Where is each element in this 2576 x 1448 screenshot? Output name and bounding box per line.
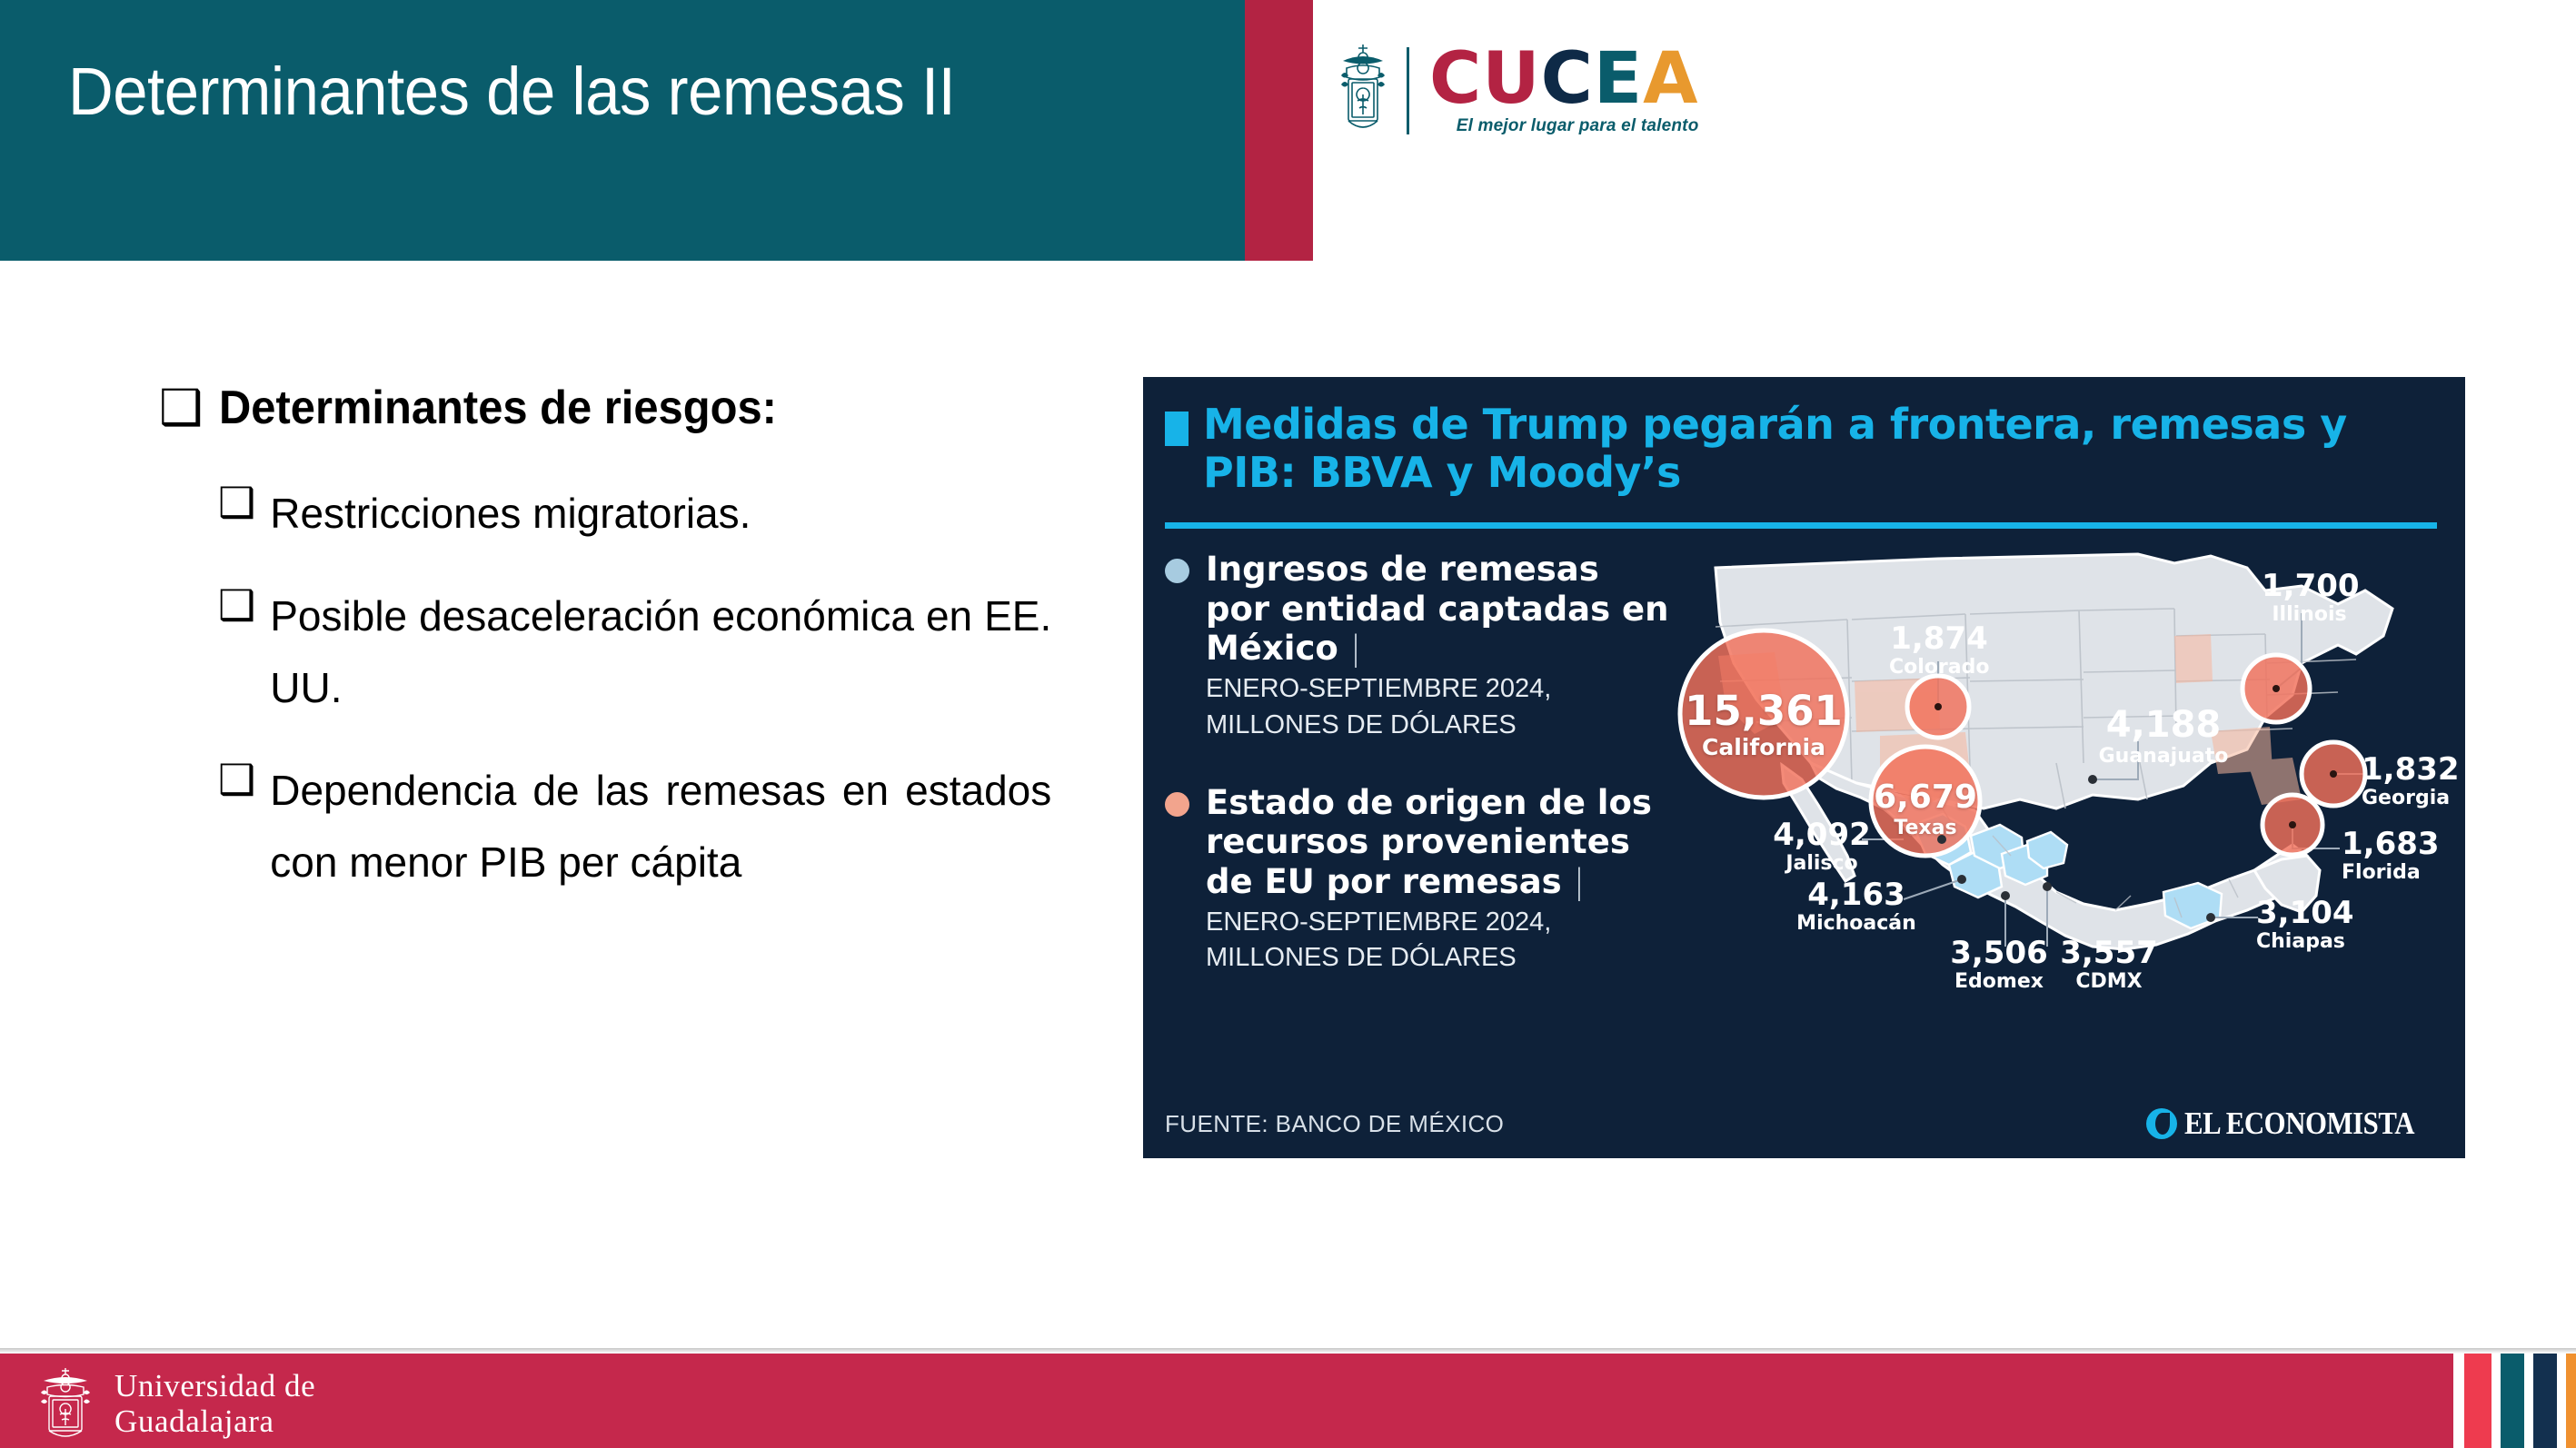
page-title: Determinantes de las remesas II (68, 56, 1133, 127)
bullet-item-1: ❑ Restricciones migratorias. (218, 478, 1131, 550)
map-label-guanajuato: 4,188 Guanajuato (2091, 707, 2236, 767)
bullet-square-icon: ❑ (218, 759, 255, 800)
legend-sub-line1: ENERO-SEPTIEMBRE 2024, (1206, 673, 1674, 705)
map-label-cdmx: 3,557 CDMX (2054, 937, 2163, 992)
infographic-source: FUENTE: BANCO DE MÉXICO (1165, 1110, 1504, 1138)
infographic-image: Medidas de Trump pegarán a frontera, rem… (1143, 377, 2465, 1158)
cucea-tagline: El mejor lugar para el talento (1457, 116, 1699, 136)
legend-item-remesas-mexico: Ingresos de remesas por entidad captadas… (1165, 550, 1674, 741)
bubble-label-texas: 6,679 Texas (1862, 781, 1989, 838)
bullet-heading-text: Determinantes de riesgos: (219, 382, 777, 436)
bullet-heading-row: ❑ Determinantes de riesgos: (159, 382, 1131, 436)
legend-item-origen-eu: Estado de origen de los recursos proveni… (1165, 783, 1674, 975)
map-label-chiapas: 3,104 Chiapas (2256, 898, 2374, 952)
legend-head-text: Estado de origen de los recursos proveni… (1206, 783, 1652, 901)
bullet-square-icon: ❑ (218, 584, 255, 626)
udg-footer-logo: Universidad de Guadalajara (35, 1365, 315, 1442)
info-title-marker-icon (1165, 412, 1189, 446)
economista-mark-icon (2146, 1108, 2177, 1139)
map-label-illinois: 1,700 Illinois (2262, 570, 2357, 625)
legend-dot-icon (1165, 792, 1189, 817)
bullet-item-2: ❑ Posible desaceleración económica en EE… (218, 580, 1131, 724)
bubble-map: 15,361 California 6,679 Texas 1,874 Colo… (1666, 536, 2465, 1081)
el-economista-logo: EL ECONOMISTA (2146, 1106, 2446, 1142)
footer-accent-bar-red (2464, 1354, 2491, 1448)
infographic-divider (1165, 522, 2437, 529)
legend-pipe: | (1350, 629, 1361, 668)
map-label-jalisco: 4,092 Jalisco (1767, 819, 1876, 874)
infographic-title: Medidas de Trump pegarán a frontera, rem… (1203, 401, 2421, 498)
map-label-michoacan: 4,163 Michoacán (1793, 879, 1920, 934)
udg-name-line1: Universidad de (114, 1368, 315, 1403)
udg-crest-icon (1336, 41, 1390, 141)
footer-accent-bar-orange (2566, 1354, 2576, 1448)
bullet-item-text: Dependencia de las remesas en estados co… (270, 755, 1051, 898)
cucea-letters: CUCEA (1429, 45, 1699, 113)
cucea-letter-u: U (1482, 38, 1540, 120)
footer-accent-bar-teal (2501, 1354, 2524, 1448)
udg-name-line2: Guadalajara (114, 1403, 315, 1439)
title-accent-stripe (1245, 0, 1313, 261)
cucea-letter-c1: C (1429, 38, 1482, 120)
legend-pipe: | (1574, 862, 1585, 901)
footer-accent-bar-navy (2533, 1354, 2557, 1448)
cucea-logo: CUCEA El mejor lugar para el talento (1336, 32, 1781, 150)
cucea-letter-e: E (1594, 38, 1643, 120)
map-label-florida: 1,683 Florida (2342, 828, 2442, 883)
bullet-square-icon: ❑ (218, 481, 255, 523)
cucea-letter-a: A (1643, 38, 1698, 120)
legend-sub-line1: ENERO-SEPTIEMBRE 2024, (1206, 907, 1674, 938)
infographic-legend: Ingresos de remesas por entidad captadas… (1165, 550, 1674, 1016)
legend-sub-line2: MILLONES DE DÓLARES (1206, 942, 1674, 974)
bullet-list: ❑ Determinantes de riesgos: ❑ Restriccio… (159, 382, 1131, 929)
legend-dot-icon (1165, 559, 1189, 583)
footer-bar (0, 1354, 2453, 1448)
cucea-letter-c2: C (1541, 38, 1594, 120)
bullet-item-text: Restricciones migratorias. (270, 478, 1051, 550)
economista-name: EL ECONOMISTA (2184, 1106, 2414, 1142)
map-label-colorado: 1,874 Colorado (1889, 623, 1989, 678)
udg-name: Universidad de Guadalajara (114, 1368, 315, 1439)
legend-head-text: Ingresos de remesas por entidad captadas… (1206, 550, 1669, 668)
bullet-item-text: Posible desaceleración económica en EE. … (270, 580, 1051, 724)
title-bar (0, 0, 1245, 261)
legend-sub-line2: MILLONES DE DÓLARES (1206, 709, 1674, 741)
bullet-square-icon: ❑ (159, 383, 203, 432)
legend-head: Ingresos de remesas por entidad captadas… (1206, 550, 1674, 669)
logo-divider (1407, 47, 1409, 134)
map-label-edomex: 3,506 Edomex (1940, 937, 2058, 992)
cucea-wordmark: CUCEA El mejor lugar para el talento (1429, 45, 1699, 136)
bubble-label-california: 15,361 California (1682, 690, 1845, 759)
legend-head: Estado de origen de los recursos proveni… (1206, 783, 1674, 902)
bullet-item-3: ❑ Dependencia de las remesas en estados … (218, 755, 1131, 898)
udg-crest-icon (35, 1365, 96, 1442)
map-label-georgia: 1,832 Georgia (2362, 754, 2462, 808)
